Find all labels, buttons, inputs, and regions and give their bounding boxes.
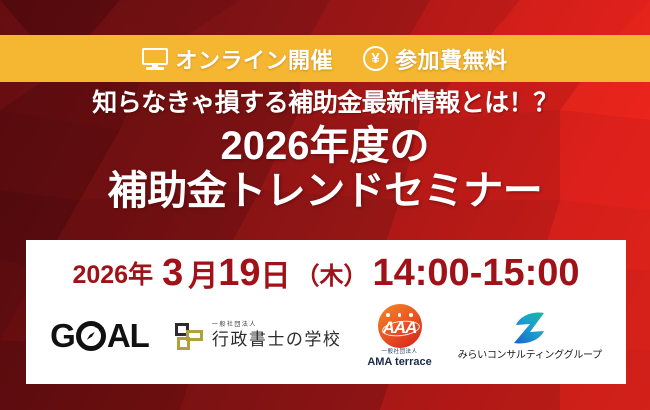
subtitle: 知らなきゃ損する補助金最新情報とは！？ <box>0 88 650 119</box>
date-day-number: 19 <box>218 252 260 295</box>
monitor-icon <box>142 48 168 70</box>
mirai-name: みらいコンサルティンググループ <box>458 350 602 361</box>
yen-circle-icon: ¥ <box>363 46 388 71</box>
logo-goal: G AL <box>50 317 149 355</box>
seminar-banner: オンライン開催 ¥ 参加費無料 知らなきゃ損する補助金最新情報とは！？ 2026… <box>0 0 650 410</box>
gyosei-name: 行政書士の学校 <box>212 330 342 350</box>
date-year: 2026年 <box>72 255 153 291</box>
event-time: 14:00-15:00 <box>373 252 580 295</box>
gyosei-mark-icon <box>175 321 205 351</box>
event-datetime: 2026年 3 月 19 日 （木） 14:00-15:00 <box>26 240 626 302</box>
gyosei-corporate-type: 一般社団法人 <box>212 322 342 328</box>
info-ribbon: オンライン開催 ¥ 参加費無料 <box>0 35 650 82</box>
logo-gyosei: 一般社団法人 行政書士の学校 <box>175 321 342 351</box>
date-month-label: 月 <box>188 251 218 295</box>
ribbon-item-free: ¥ 参加費無料 <box>363 43 508 75</box>
compass-icon <box>76 321 106 351</box>
ama-monogram: AAA <box>383 319 417 336</box>
ribbon-label-online: オンライン開催 <box>175 43 333 75</box>
headline-line-2: 補助金トレンドセミナー <box>0 169 650 214</box>
date-month-number: 3 <box>162 252 183 295</box>
ama-emblem-icon: AAA <box>378 304 422 348</box>
logo-ama-terrace: AAA 一般社団法人 AMA terrace <box>367 304 431 368</box>
logo-row: G AL 一般社団法人 行政書士の学校 <box>26 302 626 368</box>
ribbon-label-free: 参加費無料 <box>395 43 508 75</box>
goal-text-after: AL <box>107 317 149 355</box>
logo-mirai: みらいコンサルティンググループ <box>458 310 602 361</box>
goal-text-before: G <box>50 317 75 355</box>
date-day-label: 日 <box>261 251 291 295</box>
mirai-bolt-icon <box>510 310 550 346</box>
ama-name: AMA terrace <box>367 356 431 368</box>
sparkle-icon <box>95 323 104 332</box>
ribbon-item-online: オンライン開催 <box>142 43 333 75</box>
headline-line-1: 2026年度の <box>0 123 650 169</box>
date-weekday: （木） <box>296 256 368 291</box>
detail-card: 2026年 3 月 19 日 （木） 14:00-15:00 G AL <box>26 240 626 384</box>
headline-block: 知らなきゃ損する補助金最新情報とは！？ 2026年度の 補助金トレンドセミナー <box>0 88 650 214</box>
